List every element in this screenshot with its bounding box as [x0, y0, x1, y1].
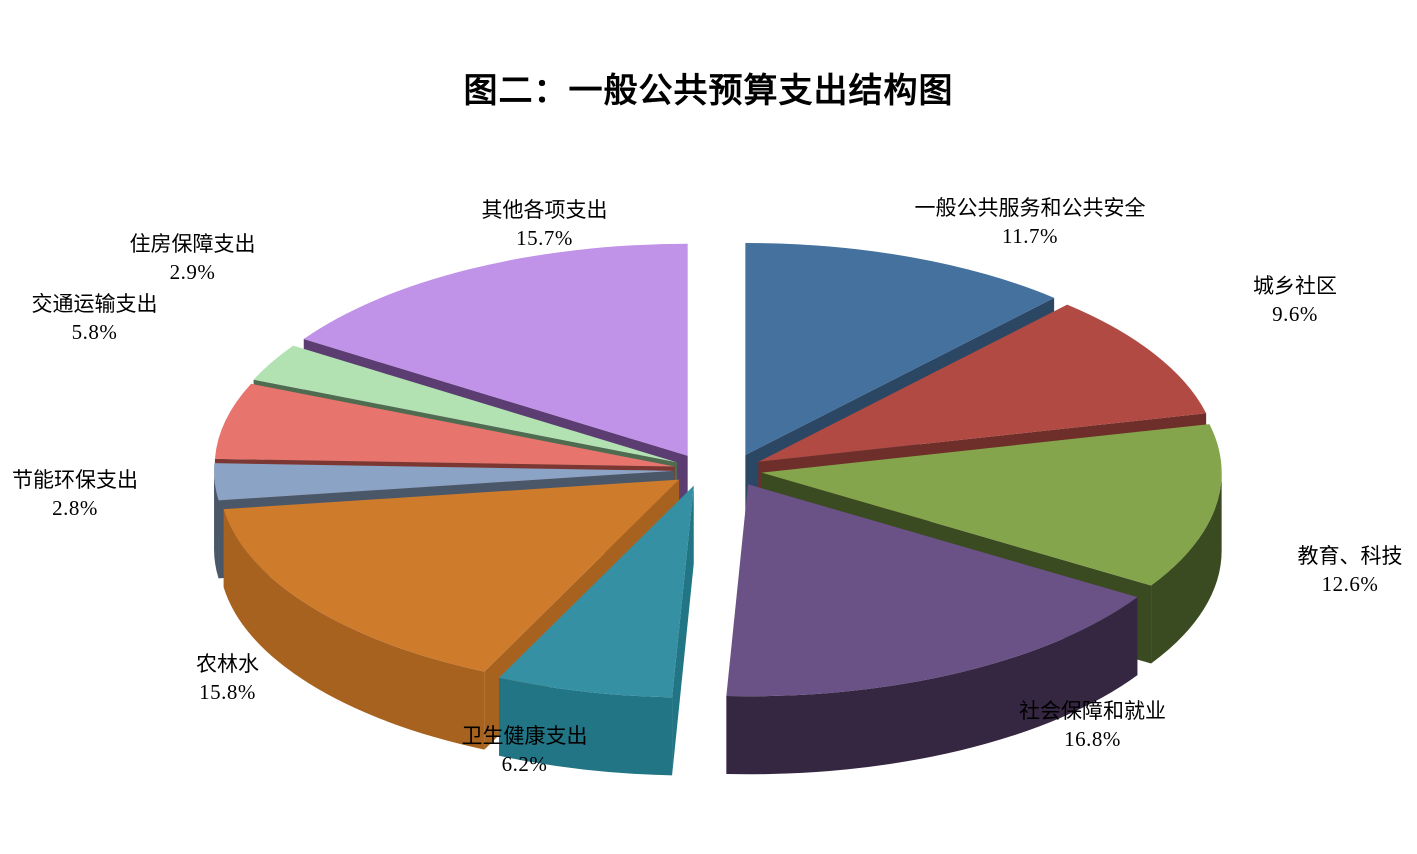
slice-label-text: 其他各项支出	[452, 196, 637, 224]
slice-label-percent: 6.2%	[432, 750, 617, 778]
slice-label-percent: 2.9%	[100, 258, 285, 286]
slice-label-text: 住房保障支出	[100, 230, 285, 258]
slice-label-general-public-service: 一般公共服务和公共安全 11.7%	[900, 194, 1160, 251]
slice-label-housing-security: 住房保障支出 2.9%	[100, 230, 285, 287]
slice-label-health: 卫生健康支出 6.2%	[432, 722, 617, 779]
slice-label-text: 城乡社区	[1195, 272, 1395, 300]
slice-label-transportation: 交通运输支出 5.8%	[2, 290, 187, 347]
slice-label-percent: 16.8%	[985, 725, 1200, 753]
slice-label-percent: 9.6%	[1195, 300, 1395, 328]
slice-label-percent: 11.7%	[900, 222, 1160, 250]
slice-label-text: 教育、科技	[1280, 542, 1417, 570]
slice-label-text: 交通运输支出	[2, 290, 187, 318]
slice-label-percent: 15.8%	[150, 678, 305, 706]
slice-label-text: 节能环保支出	[0, 466, 150, 494]
slice-label-energy-environment: 节能环保支出 2.8%	[0, 466, 150, 523]
slice-label-urban-rural-community: 城乡社区 9.6%	[1195, 272, 1395, 329]
slice-label-education-science: 教育、科技 12.6%	[1280, 542, 1417, 599]
pie-chart-figure: 图二：一般公共预算支出结构图 一般公共服务和公共安全 11.7% 城乡社区 9.…	[0, 0, 1417, 854]
slice-label-percent: 15.7%	[452, 224, 637, 252]
slice-label-agriculture-forestry-water: 农林水 15.8%	[150, 650, 305, 707]
slice-label-percent: 12.6%	[1280, 570, 1417, 598]
slice-label-text: 社会保障和就业	[985, 697, 1200, 725]
slice-label-text: 农林水	[150, 650, 305, 678]
slice-label-text: 一般公共服务和公共安全	[900, 194, 1160, 222]
slice-label-other-expenditures: 其他各项支出 15.7%	[452, 196, 637, 253]
slice-label-text: 卫生健康支出	[432, 722, 617, 750]
slice-label-percent: 2.8%	[0, 494, 150, 522]
pie-chart-graphic	[0, 0, 1417, 854]
slice-label-social-security-employment: 社会保障和就业 16.8%	[985, 697, 1200, 754]
slice-label-percent: 5.8%	[2, 318, 187, 346]
